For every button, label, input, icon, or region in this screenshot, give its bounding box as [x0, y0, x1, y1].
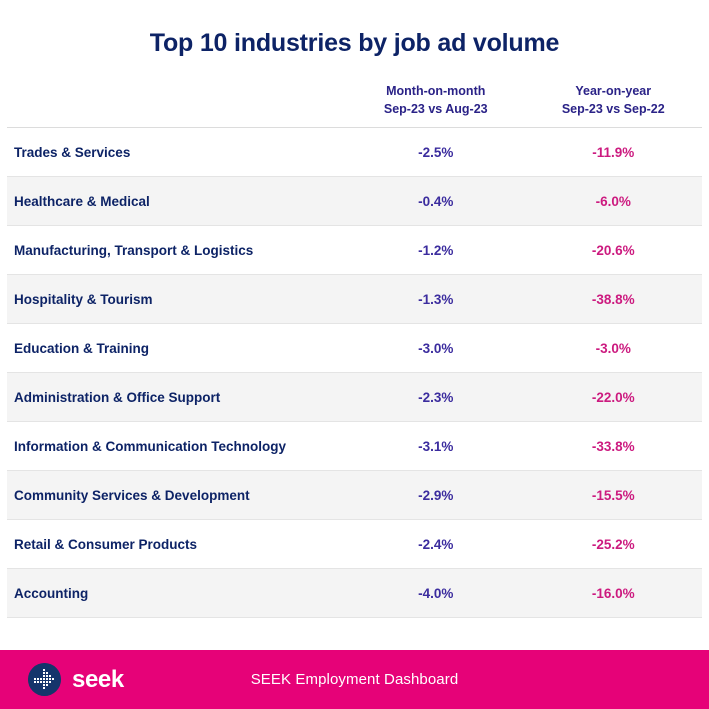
table-row: Manufacturing, Transport & Logistics -1.… — [7, 226, 702, 275]
cell-month-on-month: -1.3% — [347, 292, 525, 307]
cell-industry: Community Services & Development — [7, 488, 347, 503]
industries-table: Month-on-month Sep-23 vs Aug-23 Year-on-… — [0, 64, 709, 650]
cell-industry: Retail & Consumer Products — [7, 537, 347, 552]
cell-year-on-year: -38.8% — [525, 292, 703, 307]
table-row: Administration & Office Support -2.3% -2… — [7, 373, 702, 422]
table-row: Retail & Consumer Products -2.4% -25.2% — [7, 520, 702, 569]
cell-month-on-month: -0.4% — [347, 194, 525, 209]
table-row: Education & Training -3.0% -3.0% — [7, 324, 702, 373]
cell-year-on-year: -15.5% — [525, 488, 703, 503]
dashboard-page: Top 10 industries by job ad volume Month… — [0, 0, 709, 709]
cell-industry: Education & Training — [7, 341, 347, 356]
cell-industry: Administration & Office Support — [7, 390, 347, 405]
cell-month-on-month: -3.0% — [347, 341, 525, 356]
column-header-yoy-line1: Year-on-year — [575, 84, 651, 98]
cell-industry: Hospitality & Tourism — [7, 292, 347, 307]
cell-month-on-month: -2.4% — [347, 537, 525, 552]
column-header-year-on-year: Year-on-year Sep-23 vs Sep-22 — [525, 82, 703, 118]
table-column-headers: Month-on-month Sep-23 vs Aug-23 Year-on-… — [7, 64, 702, 128]
footer-bar: seek SEEK Employment Dashboard — [0, 650, 709, 709]
column-header-mom-line2: Sep-23 vs Aug-23 — [347, 100, 525, 118]
cell-industry: Information & Communication Technology — [7, 439, 347, 454]
cell-month-on-month: -2.9% — [347, 488, 525, 503]
seek-wordmark: seek — [72, 668, 124, 692]
cell-year-on-year: -33.8% — [525, 439, 703, 454]
cell-month-on-month: -1.2% — [347, 243, 525, 258]
table-row: Trades & Services -2.5% -11.9% — [7, 128, 702, 177]
cell-year-on-year: -25.2% — [525, 537, 703, 552]
cell-year-on-year: -22.0% — [525, 390, 703, 405]
cell-month-on-month: -2.5% — [347, 145, 525, 160]
title-section: Top 10 industries by job ad volume — [0, 0, 709, 64]
column-header-month-on-month: Month-on-month Sep-23 vs Aug-23 — [347, 82, 525, 118]
cell-year-on-year: -16.0% — [525, 586, 703, 601]
seek-logo-icon — [28, 663, 61, 696]
table-row: Accounting -4.0% -16.0% — [7, 569, 702, 618]
cell-month-on-month: -2.3% — [347, 390, 525, 405]
table-row: Hospitality & Tourism -1.3% -38.8% — [7, 275, 702, 324]
cell-month-on-month: -4.0% — [347, 586, 525, 601]
cell-industry: Manufacturing, Transport & Logistics — [7, 243, 347, 258]
column-header-yoy-line2: Sep-23 vs Sep-22 — [525, 100, 703, 118]
cell-month-on-month: -3.1% — [347, 439, 525, 454]
cell-industry: Healthcare & Medical — [7, 194, 347, 209]
cell-year-on-year: -3.0% — [525, 341, 703, 356]
cell-industry: Accounting — [7, 586, 347, 601]
cell-year-on-year: -6.0% — [525, 194, 703, 209]
table-body: Trades & Services -2.5% -11.9% Healthcar… — [7, 128, 702, 618]
cell-year-on-year: -20.6% — [525, 243, 703, 258]
table-row: Healthcare & Medical -0.4% -6.0% — [7, 177, 702, 226]
cell-year-on-year: -11.9% — [525, 145, 703, 160]
table-row: Information & Communication Technology -… — [7, 422, 702, 471]
table-row: Community Services & Development -2.9% -… — [7, 471, 702, 520]
page-title: Top 10 industries by job ad volume — [0, 28, 709, 58]
column-header-mom-line1: Month-on-month — [386, 84, 485, 98]
cell-industry: Trades & Services — [7, 145, 347, 160]
seek-brand: seek — [28, 663, 124, 696]
